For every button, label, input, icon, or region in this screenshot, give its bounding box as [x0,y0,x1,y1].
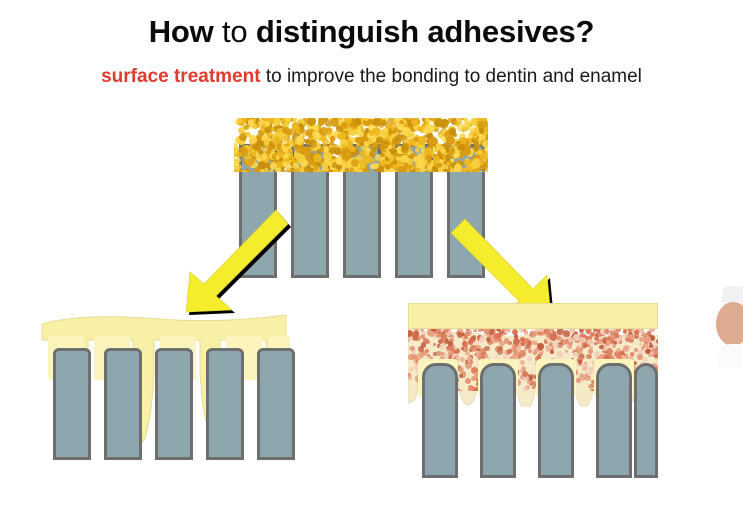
particle [408,131,414,137]
particle [236,164,242,170]
dentin-column [596,363,632,478]
particle [442,164,449,169]
particle [389,168,394,172]
particle [525,340,529,344]
particle [269,170,274,172]
particle [290,161,294,167]
dentin-column [634,363,658,478]
particle [524,330,528,334]
particle [594,351,600,357]
particle [422,331,427,336]
dentin-column [104,348,142,460]
particle [461,347,464,350]
particle [584,344,588,348]
particle [425,349,429,353]
presenter-video-overlay [712,286,743,368]
particle [436,144,442,150]
particle [408,337,411,342]
particle [351,159,359,167]
particle [608,333,611,336]
particle [507,349,512,354]
particle [479,337,485,343]
particle [466,171,470,172]
particle [400,155,409,164]
particle [550,334,557,341]
particle [574,334,579,339]
particle [289,153,293,159]
slide-canvas: How to distinguish adhesives? surface tr… [0,0,743,513]
adhesive-layer-band [408,303,658,329]
diagram-etch-and-rinse-resin-tags [40,312,290,467]
particle [556,351,562,357]
particle [433,156,440,164]
arrow-body-left [186,210,288,312]
particle [372,146,378,152]
particle [479,128,485,134]
particle [433,343,437,347]
particle [563,330,570,337]
particle [455,121,460,126]
dentin-column [480,363,516,478]
particle [351,122,358,129]
particle [369,130,375,136]
particle [468,339,474,345]
particle [344,167,345,171]
particle [313,166,318,171]
particle [462,122,471,131]
particle [478,329,483,332]
particle [471,345,477,351]
particle [586,354,591,359]
dentin-column [422,363,458,478]
presenter-head-icon [716,302,743,346]
particle [529,331,536,338]
particle [408,374,412,379]
particle [475,351,482,358]
particle [520,360,525,365]
dentin-column [53,348,91,460]
smear-layer-drip [433,144,449,169]
particle [513,338,520,345]
particle [451,335,454,338]
particle [307,118,316,126]
particle [364,141,369,146]
particle [548,346,552,350]
particle [267,145,273,151]
dentin-column [155,348,193,460]
particle [388,145,392,149]
particle [594,342,598,346]
particle [366,148,370,152]
particle [236,152,242,158]
smear-layer-granular [234,118,488,172]
particle [392,130,396,134]
particle [508,341,512,345]
particle [656,339,658,344]
particle [642,357,648,363]
particle [654,355,657,358]
particle [381,120,387,126]
particle [567,342,572,347]
particle [484,346,490,352]
particle [302,146,312,156]
particle [385,157,389,161]
particle [397,124,404,131]
particle [411,118,419,126]
particle [454,164,462,172]
particle [260,169,265,172]
particle [590,333,594,337]
particle [527,381,530,384]
presenter-collar [718,344,743,368]
smear-layer-drip [381,144,397,166]
particle [269,141,273,145]
particle [471,161,480,170]
particle [261,153,268,160]
title-part-how: How [149,14,222,49]
arrow-to-bottom-right [443,212,568,317]
particle [341,122,347,128]
page-title: How to distinguish adhesives? [0,13,743,51]
particle [293,163,299,169]
particle [519,350,526,357]
particle [435,333,440,338]
particle [445,354,449,358]
particle [283,154,288,159]
particle [321,162,328,169]
particle [410,356,414,360]
particle [643,343,648,348]
particle [282,127,289,134]
diagram-self-etch-hybrid-layer [408,303,658,481]
particle [565,350,568,353]
particle [384,169,389,172]
smear-layer-drip [329,144,345,170]
particle [441,352,445,356]
title-part-distinguish: distinguish adhesives? [256,14,594,49]
particle [649,342,652,345]
particle [381,165,385,166]
particle [356,137,362,143]
particle [528,349,532,353]
particle [557,336,561,340]
particle [445,154,450,161]
particle [304,166,312,172]
particle [465,329,472,336]
title-part-to: to [222,14,256,49]
particle [537,343,544,350]
smear-layer-drip [277,144,293,168]
arrow-to-bottom-left [172,205,297,310]
particle [414,126,419,131]
particle [544,329,551,335]
particle [599,345,604,350]
particle [459,374,463,378]
particle [550,350,554,354]
particle [537,354,542,359]
particle [611,335,615,339]
particle [292,124,299,131]
particle [480,153,487,160]
particle [433,167,438,170]
particle [439,122,446,129]
particle [395,134,403,142]
particle [474,170,480,172]
dentin-column [206,348,244,460]
particle [418,136,427,145]
particle [421,342,427,348]
particle [465,360,469,364]
particle [439,344,445,350]
particle [526,385,531,390]
particle [363,155,371,163]
particle [555,343,558,346]
particle [527,357,532,362]
particle [412,332,418,338]
particle [390,123,396,129]
particle [568,337,573,342]
page-subtitle: surface treatment to improve the bonding… [0,64,743,89]
particle [582,366,587,371]
particle [282,167,287,168]
particle [533,351,537,355]
particle [409,347,413,351]
particle [448,148,454,154]
particle [446,144,449,149]
dentin-column [257,348,295,460]
particle [409,367,414,372]
particle [313,154,321,162]
particle [441,149,446,154]
particle [312,131,318,137]
particle [376,137,383,144]
particle [468,385,475,391]
particle [470,360,474,364]
particle [458,390,464,391]
particle [421,149,425,153]
particle [443,329,449,333]
particle [398,166,407,172]
subtitle-emphasis: surface treatment [101,66,260,87]
particle [270,162,277,169]
dentin-column [538,363,574,478]
particle [458,144,465,151]
particle [462,333,465,336]
particle [468,356,472,360]
subtitle-rest: to improve the bonding to dentin and ena… [261,66,642,87]
particle [342,144,345,150]
particle [645,336,651,342]
particle [630,352,635,357]
particle [336,157,344,165]
particle [245,158,254,167]
particle [320,147,325,152]
